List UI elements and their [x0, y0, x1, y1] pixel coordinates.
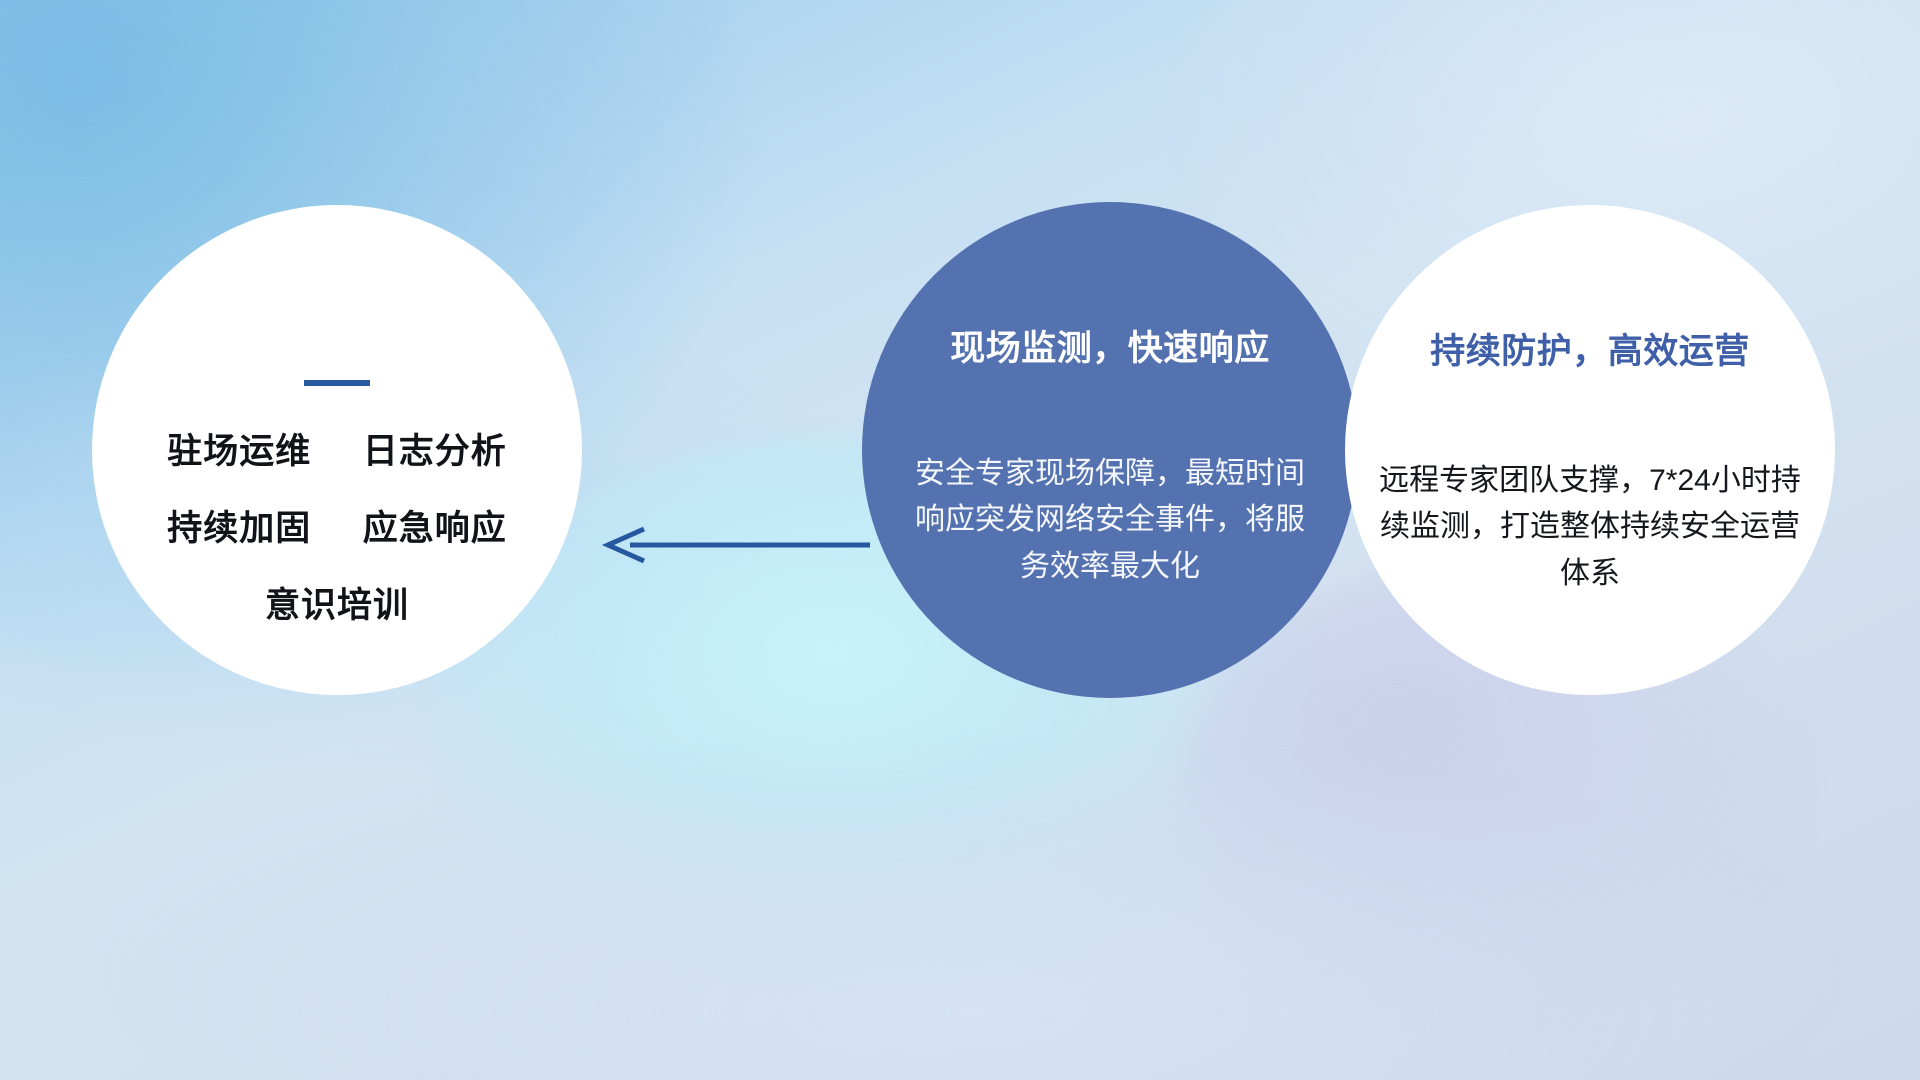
center-circle-body: 安全专家现场保障，最短时间响应突发网络安全事件，将服务效率最大化 — [872, 451, 1348, 591]
capability-label: 应急响应 — [363, 509, 507, 548]
capability-row: 持续加固 应急响应 — [92, 511, 582, 546]
onsite-monitoring-circle[interactable]: 现场监测，快速响应 安全专家现场保障，最短时间响应突发网络安全事件，将服务效率最… — [862, 202, 1358, 698]
connector-arrow-left — [600, 522, 870, 568]
background-glow-bottom — [120, 760, 1820, 1080]
capability-label: 意识培训 — [265, 586, 409, 625]
center-circle-content: 现场监测，快速响应 安全专家现场保障，最短时间响应突发网络安全事件，将服务效率最… — [872, 330, 1348, 590]
diagram-canvas: 驻场运维 日志分析 持续加固 应急响应 意识培训 现场监测，快速响应 安全专家现… — [0, 0, 1920, 1080]
section-divider — [304, 380, 370, 386]
right-circle-content: 持续防护，高效运营 远程专家团队支撑，7*24小时持续监测，打造整体持续安全运营… — [1353, 333, 1827, 597]
capability-row: 意识培训 — [92, 588, 582, 623]
arrow-left-icon — [600, 522, 870, 568]
center-circle-title: 现场监测，快速响应 — [872, 330, 1348, 369]
right-circle-body: 远程专家团队支撑，7*24小时持续监测，打造整体持续安全运营体系 — [1353, 458, 1827, 598]
capability-label: 日志分析 — [363, 432, 507, 471]
capability-label: 驻场运维 — [167, 432, 311, 471]
capability-label: 持续加固 — [167, 509, 311, 548]
left-capability-circle[interactable]: 驻场运维 日志分析 持续加固 应急响应 意识培训 — [92, 205, 582, 695]
capability-row: 驻场运维 日志分析 — [92, 434, 582, 469]
right-circle-title: 持续防护，高效运营 — [1353, 333, 1827, 372]
continuous-protection-circle[interactable]: 持续防护，高效运营 远程专家团队支撑，7*24小时持续监测，打造整体持续安全运营… — [1345, 205, 1835, 695]
left-circle-content: 驻场运维 日志分析 持续加固 应急响应 意识培训 — [92, 380, 582, 623]
